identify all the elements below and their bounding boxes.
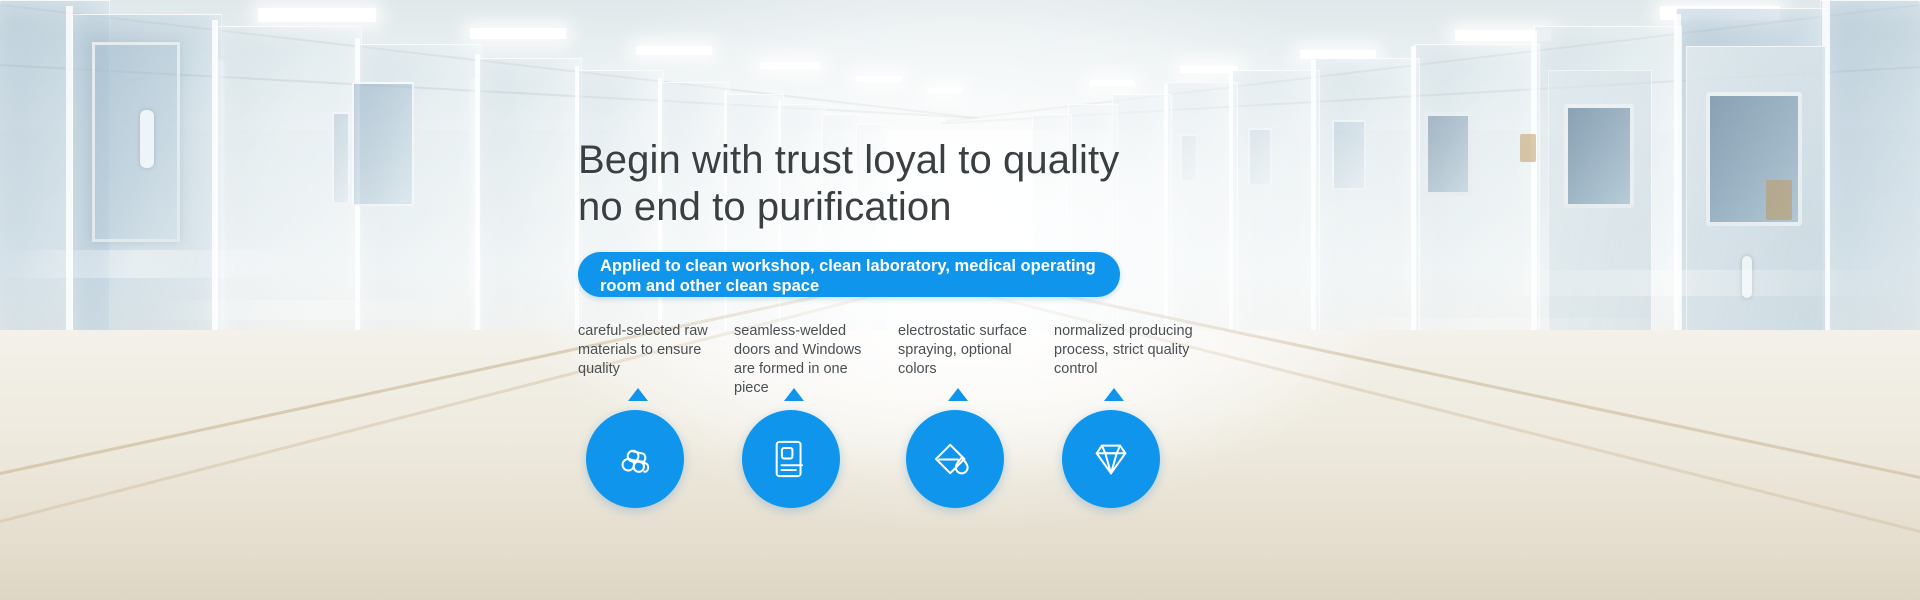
page-title: Begin with trust loyal to quality no end… xyxy=(578,137,1119,231)
feature-list: careful-selected raw materials to ensure… xyxy=(578,322,1298,512)
hero-content: Begin with trust loyal to quality no end… xyxy=(0,0,1920,600)
feature-item-seamless-welded: seamless-welded doors and Windows are fo… xyxy=(734,322,884,398)
feature-item-raw-materials: careful-selected raw materials to ensure… xyxy=(578,322,728,379)
diamond-gem-icon xyxy=(1088,437,1134,481)
application-banner: Applied to clean workshop, clean laborat… xyxy=(578,252,1120,297)
stacked-pipes-icon xyxy=(612,436,658,482)
feature-caption: normalized producing process, strict qua… xyxy=(1054,322,1204,379)
feature-icon-button[interactable] xyxy=(586,410,684,508)
paint-droplet-icon xyxy=(933,437,977,481)
feature-caption: seamless-welded doors and Windows are fo… xyxy=(734,322,884,398)
application-banner-line-1: Applied to clean workshop, clean laborat… xyxy=(600,256,1096,276)
feature-item-quality-control: normalized producing process, strict qua… xyxy=(1054,322,1204,379)
feature-caption: careful-selected raw materials to ensure… xyxy=(578,322,728,379)
application-banner-line-2: room and other clean space xyxy=(600,276,1096,296)
feature-item-electrostatic-spraying: electrostatic surface spraying, optional… xyxy=(898,322,1048,379)
feature-icon-button[interactable] xyxy=(906,410,1004,508)
feature-pointer xyxy=(784,388,804,401)
feature-icon-button[interactable] xyxy=(1062,410,1160,508)
feature-pointer xyxy=(1104,388,1124,401)
feature-pointer xyxy=(948,388,968,401)
feature-icon-button[interactable] xyxy=(742,410,840,508)
feature-pointer xyxy=(628,388,648,401)
door-panel-icon xyxy=(770,437,812,481)
feature-caption: electrostatic surface spraying, optional… xyxy=(898,322,1048,379)
